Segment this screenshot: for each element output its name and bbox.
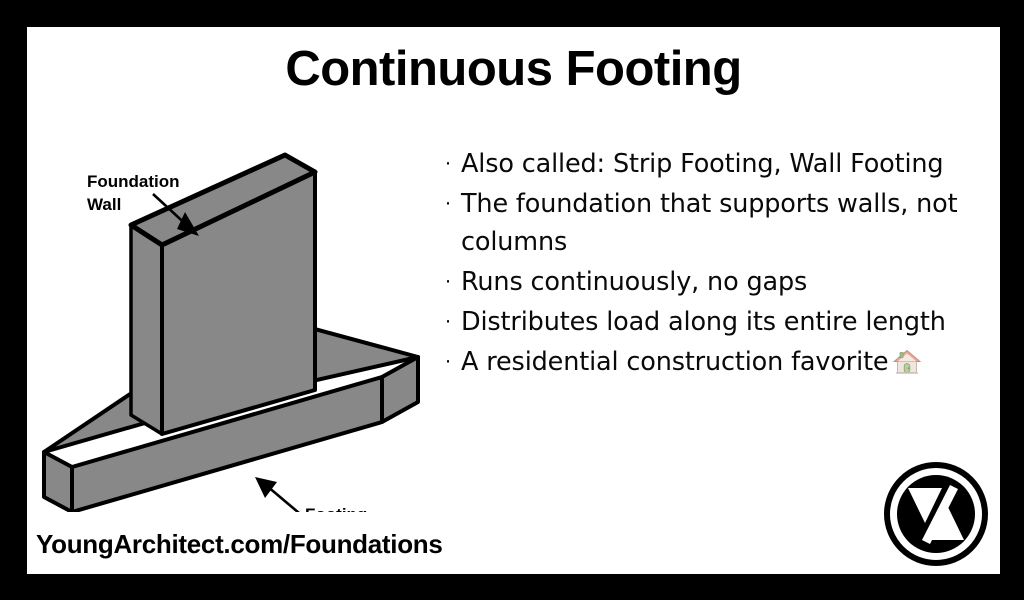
- bullet-marker-icon: ·: [435, 303, 461, 341]
- bullet-list: · Also called: Strip Footing, Wall Footi…: [435, 145, 980, 383]
- bullet-marker-icon: ·: [435, 145, 461, 183]
- list-item: · Runs continuously, no gaps: [435, 263, 980, 301]
- list-item-label: Runs continuously, no gaps: [461, 263, 980, 301]
- footing-diagram-svg: Foundation Wall Footing: [27, 112, 457, 512]
- slab-right-face: [382, 357, 418, 422]
- page-title: Continuous Footing: [27, 41, 1000, 97]
- slide-frame: Continuous Footing: [0, 0, 1024, 600]
- bullet-marker-icon: ·: [435, 343, 461, 381]
- footing-leader-line: [267, 486, 299, 512]
- list-item-label: Distributes load along its entire length: [461, 303, 980, 341]
- list-item: · Distributes load along its entire leng…: [435, 303, 980, 341]
- list-item-label: Also called: Strip Footing, Wall Footing: [461, 145, 980, 183]
- list-item-label: A residential construction favorite: [461, 347, 888, 377]
- slide-page: Continuous Footing: [27, 27, 1000, 574]
- list-item-label: The foundation that supports walls, not …: [461, 185, 980, 261]
- slab-left-face: [44, 452, 72, 512]
- bullet-marker-icon: ·: [435, 185, 461, 223]
- footer-url-text: YoungArchitect.com/Foundations: [36, 529, 443, 560]
- foundation-wall-label-line2: Wall: [87, 195, 121, 214]
- list-item: · Also called: Strip Footing, Wall Footi…: [435, 145, 980, 183]
- footing-diagram: Foundation Wall Footing: [27, 112, 457, 512]
- brand-logo: [884, 462, 988, 566]
- list-item-label-wrap: A residential construction favorite: [461, 343, 980, 381]
- young-architect-logo-icon: [884, 462, 988, 566]
- list-item: · A residential construction favorite: [435, 343, 980, 381]
- footing-arrowhead: [255, 477, 277, 498]
- foundation-wall-label-line1: Foundation: [87, 172, 180, 191]
- list-item: · The foundation that supports walls, no…: [435, 185, 980, 261]
- house-icon: [892, 348, 922, 376]
- bullet-marker-icon: ·: [435, 263, 461, 301]
- wall-left-face: [131, 225, 162, 434]
- footing-label: Footing: [305, 505, 367, 512]
